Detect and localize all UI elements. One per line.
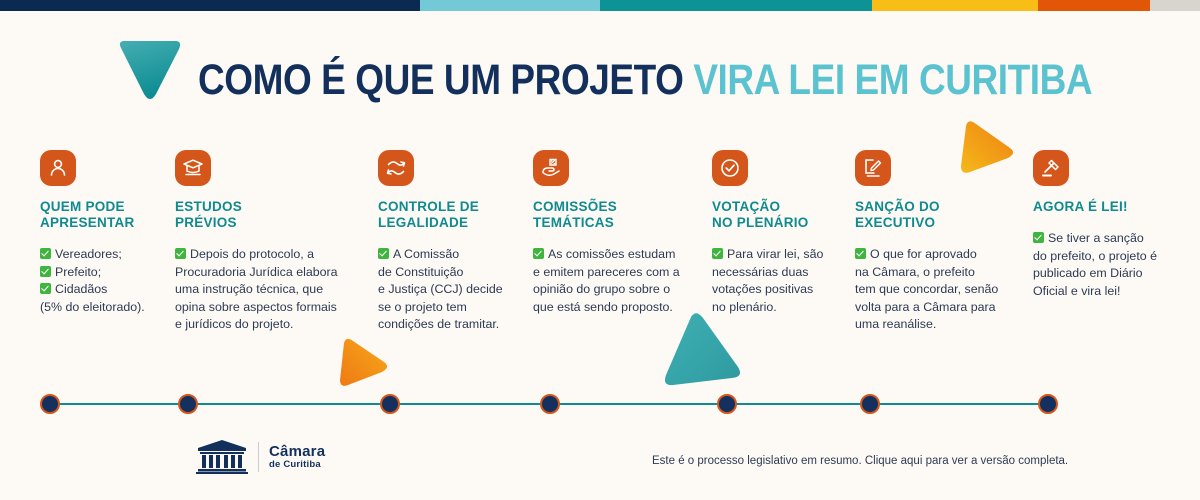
topbar-segment-yellow <box>872 0 1038 11</box>
line-text: Cidadãos <box>55 282 107 296</box>
line-text: Prefeito; <box>55 265 101 279</box>
logo-line-2: de Curitiba <box>269 460 325 470</box>
step-2-line-2: Procuradoria Jurídica elabora <box>175 264 360 282</box>
page-title-part1: COMO É QUE UM PROJETO <box>198 56 693 104</box>
step-1-line-4: (5% do eleitorado). <box>40 299 170 317</box>
line-text: de Constituição <box>378 265 463 279</box>
line-text: que está sendo proposto. <box>533 300 673 314</box>
step-column-6: SANÇÃO DO EXECUTIVOO que for aprovadona … <box>855 150 1030 334</box>
step-1-line-1: Vereadores; <box>40 246 170 264</box>
logo-line-1: Câmara <box>269 444 325 460</box>
step-2-line-4: opina sobre aspectos formais <box>175 299 360 317</box>
line-text: e emitem pareceres com a <box>533 265 680 279</box>
step-title-6: SANÇÃO DO EXECUTIVO <box>855 199 1030 231</box>
step-4-line-1: As comissões estudam <box>533 246 703 264</box>
step-3-line-2: de Constituição <box>378 264 528 282</box>
line-text: opinião do grupo sobre o <box>533 282 670 296</box>
line-text: Se tiver a sanção <box>1048 231 1144 245</box>
step-column-3: CONTROLE DE LEGALIDADEA Comissãode Const… <box>378 150 528 334</box>
step-2-line-1: Depois do protocolo, a <box>175 246 360 264</box>
gavel-icon <box>1033 150 1069 186</box>
line-text: condições de tramitar. <box>378 317 499 331</box>
footer-note[interactable]: Este é o processo legislativo em resumo.… <box>652 455 1068 467</box>
step-6-line-3: tem que concordar, senão <box>855 281 1030 299</box>
step-4-line-3: opinião do grupo sobre o <box>533 281 703 299</box>
step-6-line-1: O que for aprovado <box>855 246 1030 264</box>
step-2-line-5: e jurídicos do projeto. <box>175 316 360 334</box>
step-3-line-3: e Justiça (CCJ) decide <box>378 281 528 299</box>
step-body-1: Vereadores;Prefeito;Cidadãos(5% do eleit… <box>40 246 170 316</box>
check-icon <box>40 248 51 259</box>
step-3-line-1: A Comissão <box>378 246 528 264</box>
decorative-triangle-teal-large <box>659 312 745 394</box>
check-icon <box>1033 232 1044 243</box>
topbar-segment-navy <box>0 0 420 11</box>
step-column-5: VOTAÇÃO NO PLENÁRIOPara virar lei, sãone… <box>712 150 847 316</box>
step-5-line-2: necessárias duas <box>712 264 847 282</box>
line-text: O que for aprovado <box>870 247 977 261</box>
top-color-bar <box>0 0 1200 11</box>
step-5-line-3: votações positivas <box>712 281 847 299</box>
topbar-segment-teal <box>600 0 872 11</box>
line-text: Oficial e vira lei! <box>1033 284 1120 298</box>
timeline-dot-5[interactable] <box>717 394 737 414</box>
logo-divider <box>258 442 259 472</box>
step-4-line-4: que está sendo proposto. <box>533 299 703 317</box>
graduation-cap-icon <box>175 150 211 186</box>
step-body-2: Depois do protocolo, aProcuradoria Juríd… <box>175 246 360 334</box>
timeline-dot-7[interactable] <box>1038 394 1058 414</box>
line-text: votações positivas <box>712 282 813 296</box>
step-5-line-4: no plenário. <box>712 299 847 317</box>
line-text: do prefeito, o projeto é <box>1033 249 1157 263</box>
check-icon <box>533 248 544 259</box>
topbar-segment-orange <box>1038 0 1150 11</box>
topbar-segment-light-cyan <box>420 0 600 11</box>
step-5-line-1: Para virar lei, são <box>712 246 847 264</box>
topbar-segment-grey <box>1150 0 1200 11</box>
line-text: tem que concordar, senão <box>855 282 998 296</box>
line-text: no plenário. <box>712 300 777 314</box>
camara-logo[interactable]: Câmara de Curitiba <box>196 440 325 474</box>
page-title: COMO É QUE UM PROJETO VIRA LEI EM CURITI… <box>198 56 1092 105</box>
camara-building-icon <box>196 440 248 474</box>
person-icon <box>40 150 76 186</box>
step-1-line-3: Cidadãos <box>40 281 170 299</box>
check-icon <box>855 248 866 259</box>
timeline-dot-6[interactable] <box>860 394 880 414</box>
step-3-line-5: condições de tramitar. <box>378 316 528 334</box>
check-icon <box>40 283 51 294</box>
step-body-7: Se tiver a sançãodo prefeito, o projeto … <box>1033 230 1193 300</box>
decorative-triangle-orange <box>334 337 390 389</box>
step-7-line-3: publicado em Diário <box>1033 265 1193 283</box>
step-title-1: QUEM PODE APRESENTAR <box>40 199 170 231</box>
line-text: uma reanálise. <box>855 317 936 331</box>
timeline-dot-4[interactable] <box>540 394 560 414</box>
check-icon <box>378 248 389 259</box>
step-body-6: O que for aprovadona Câmara, o prefeitot… <box>855 246 1030 334</box>
line-text: Para virar lei, são <box>727 247 823 261</box>
check-icon <box>175 248 186 259</box>
step-6-line-4: volta para a Câmara para <box>855 299 1030 317</box>
hand-document-icon <box>533 150 569 186</box>
logo-text: Câmara de Curitiba <box>269 444 325 470</box>
line-text: volta para a Câmara para <box>855 300 996 314</box>
line-text: (5% do eleitorado). <box>40 300 145 314</box>
timeline-dot-3[interactable] <box>380 394 400 414</box>
step-1-line-2: Prefeito; <box>40 264 170 282</box>
step-7-line-2: do prefeito, o projeto é <box>1033 248 1193 266</box>
line-text: e Justiça (CCJ) decide <box>378 282 503 296</box>
step-title-4: COMISSÕES TEMÁTICAS <box>533 199 703 231</box>
balance-scales-icon <box>378 150 414 186</box>
timeline-dot-1[interactable] <box>40 394 60 414</box>
line-text: se o projeto tem <box>378 300 467 314</box>
infographic-canvas: COMO É QUE UM PROJETO VIRA LEI EM CURITI… <box>0 0 1200 500</box>
step-title-7: AGORA É LEI! <box>1033 199 1193 215</box>
step-column-1: QUEM PODE APRESENTARVereadores;Prefeito;… <box>40 150 170 316</box>
check-circle-icon <box>712 150 748 186</box>
timeline-dot-2[interactable] <box>178 394 198 414</box>
step-column-7: AGORA É LEI!Se tiver a sançãodo prefeito… <box>1033 150 1193 300</box>
sign-document-icon <box>855 150 891 186</box>
step-title-3: CONTROLE DE LEGALIDADE <box>378 199 528 231</box>
step-2-line-3: uma instrução técnica, que <box>175 281 360 299</box>
step-title-5: VOTAÇÃO NO PLENÁRIO <box>712 199 847 231</box>
step-7-line-1: Se tiver a sanção <box>1033 230 1193 248</box>
page-title-part2: VIRA LEI EM CURITIBA <box>693 56 1092 104</box>
line-text: publicado em Diário <box>1033 266 1143 280</box>
line-text: na Câmara, o prefeito <box>855 265 975 279</box>
decorative-triangle-teal-down <box>113 38 187 103</box>
line-text: uma instrução técnica, que <box>175 282 323 296</box>
step-body-4: As comissões estudame emitem pareceres c… <box>533 246 703 316</box>
check-icon <box>712 248 723 259</box>
step-6-line-2: na Câmara, o prefeito <box>855 264 1030 282</box>
line-text: opina sobre aspectos formais <box>175 300 337 314</box>
step-4-line-2: e emitem pareceres com a <box>533 264 703 282</box>
line-text: A Comissão <box>393 247 459 261</box>
step-3-line-4: se o projeto tem <box>378 299 528 317</box>
line-text: As comissões estudam <box>548 247 675 261</box>
line-text: Procuradoria Jurídica elabora <box>175 265 338 279</box>
step-body-3: A Comissãode Constituiçãoe Justiça (CCJ)… <box>378 246 528 334</box>
line-text: necessárias duas <box>712 265 808 279</box>
line-text: Vereadores; <box>55 247 122 261</box>
step-title-2: ESTUDOS PRÉVIOS <box>175 199 360 231</box>
line-text: e jurídicos do projeto. <box>175 317 293 331</box>
step-column-4: COMISSÕES TEMÁTICASAs comissões estudame… <box>533 150 703 316</box>
step-column-2: ESTUDOS PRÉVIOSDepois do protocolo, aPro… <box>175 150 360 334</box>
check-icon <box>40 266 51 277</box>
step-7-line-4: Oficial e vira lei! <box>1033 283 1193 301</box>
step-body-5: Para virar lei, sãonecessárias duasvotaç… <box>712 246 847 316</box>
step-6-line-5: uma reanálise. <box>855 316 1030 334</box>
line-text: Depois do protocolo, a <box>190 247 314 261</box>
